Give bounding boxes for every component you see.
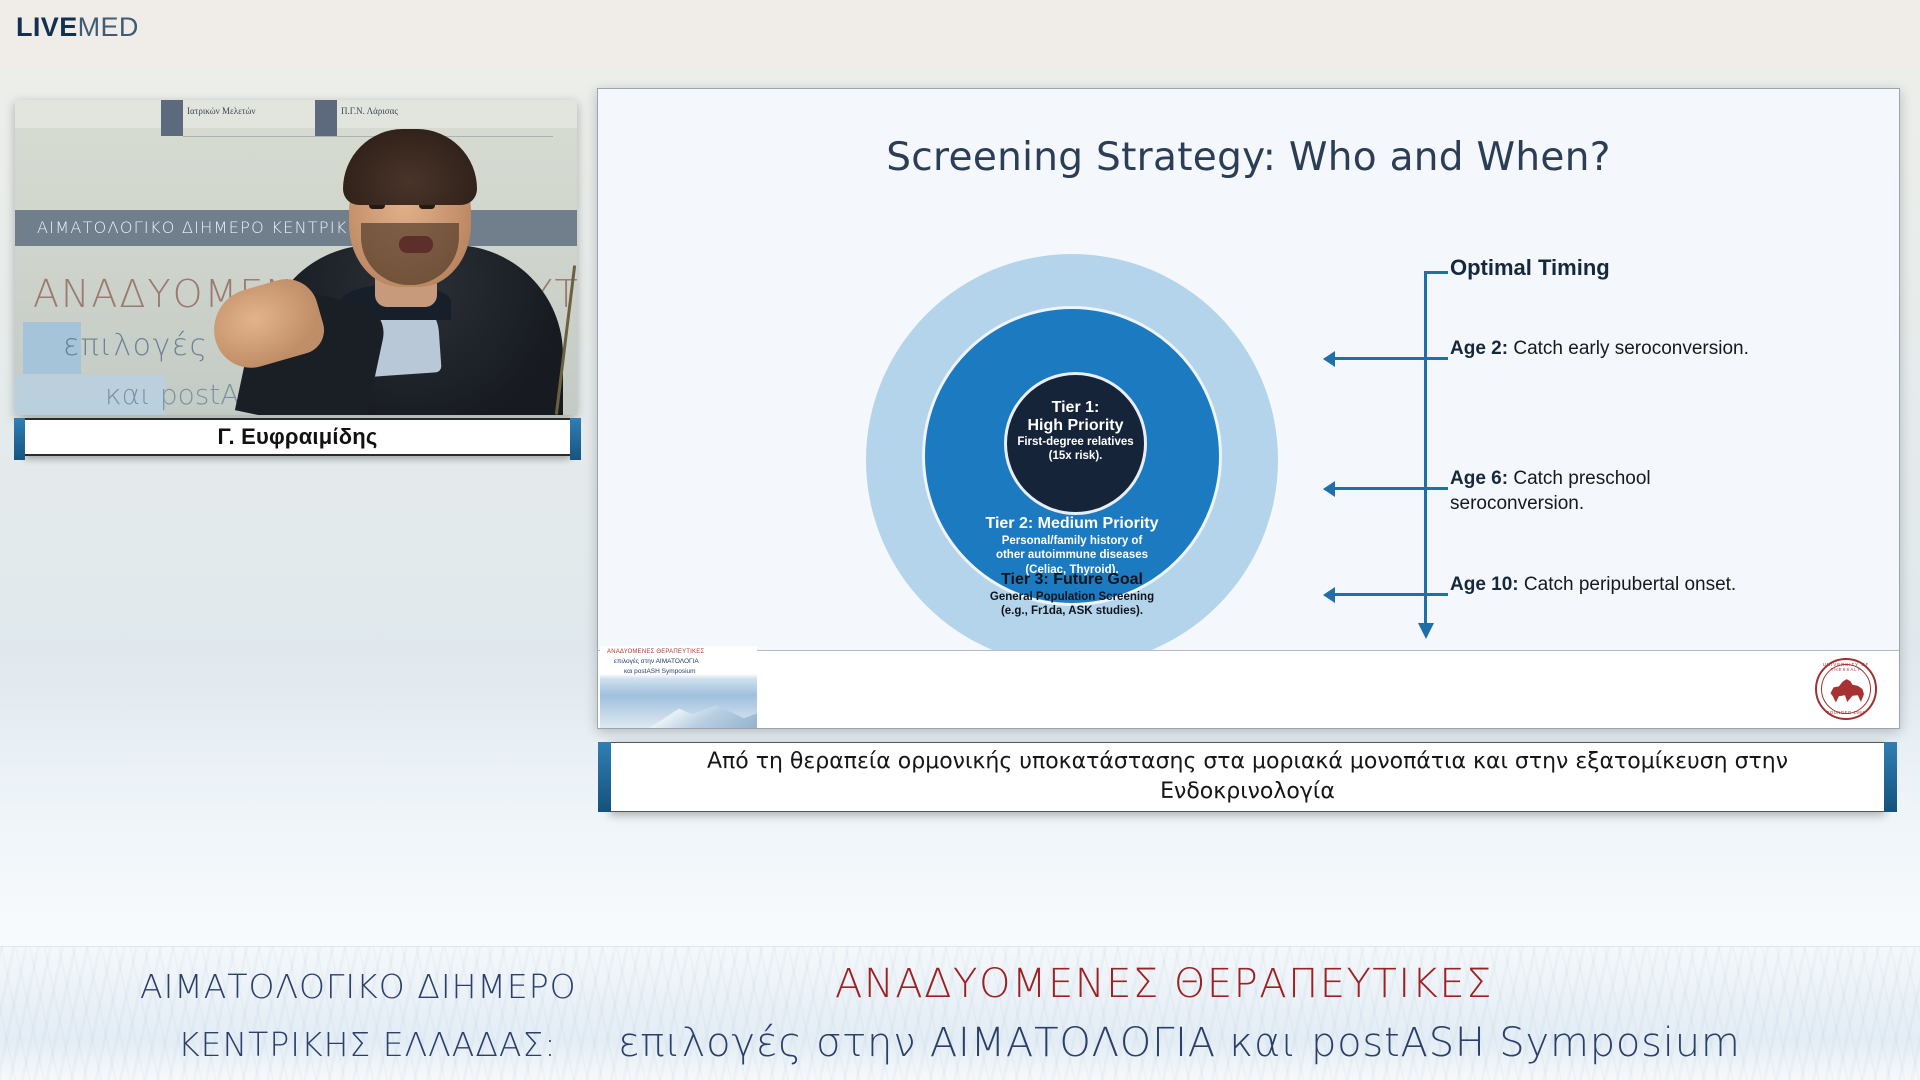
tier-1-detail-line2: (15x risk). [1007, 450, 1144, 464]
tier-3-detail-line2: (e.g., Fr1da, ASK studies). [866, 604, 1278, 618]
tier-3-label: Tier 3: Future Goal General Population S… [866, 570, 1278, 619]
tier-3-detail-line1: General Population Screening [866, 590, 1278, 604]
conference-bottom-banner: ΑΙΜΑΤΟΛΟΓΙΚΟ ΔΙΗΜΕΡΟ ΚΕΝΤΡΙΚΗΣ ΕΛΛΑΔΑΣ: … [0, 946, 1920, 1080]
speaker-hair [343, 129, 477, 205]
university-of-thessaly-seal-icon: UNIVERSITY OF THESSALY FOUNDED 1984 [1815, 658, 1877, 720]
timeline-top-cap [1424, 271, 1448, 274]
top-logo-bar: LIVEMED [0, 0, 1920, 66]
timeline-tick-age-2 [1334, 357, 1448, 360]
tier-1-heading-line2: High Priority [1007, 417, 1144, 435]
banner-left-line1: ΑΙΜΑΤΟΛΟΓΙΚΟ ΔΙΗΜΕΡΟ [140, 967, 577, 1006]
tier-2-label: Tier 2: Medium Priority Personal/family … [925, 514, 1219, 577]
timeline-age-2-text: Catch early seroconversion. [1508, 338, 1749, 359]
optimal-timing-timeline: Optimal Timing Age 2: Catch early seroco… [1424, 267, 1844, 667]
mini-logo-line1: ΑΝΑΔΥΟΜΕΝΕΣ ΘΕΡΑΠΕΥΤΙΚΕΣ [607, 649, 704, 655]
seal-bottom-text: FOUNDED 1984 [1817, 710, 1875, 715]
session-caption-bar: Από τη θεραπεία ορμονικής υποκατάστασης … [610, 742, 1885, 812]
name-plate-cap-left [14, 418, 25, 460]
caption-text: Από τη θεραπεία ορμονικής υποκατάστασης … [611, 747, 1884, 806]
tier-1-label: Tier 1: High Priority First-degree relat… [1007, 399, 1144, 463]
presentation-slide[interactable]: Screening Strategy: Who and When? Tier 1… [597, 88, 1900, 729]
tier-1-heading-line1: Tier 1: [1007, 399, 1144, 417]
arrow-left-icon-1 [1323, 351, 1335, 367]
banner-right-line2: επιλογές στην ΑΙΜΑΤΟΛΟΓΙΑ και postASH Sy… [618, 1020, 1741, 1066]
timeline-age-10-label: Age 10: [1450, 574, 1519, 595]
speaker-figure [223, 115, 577, 415]
tier-2-heading: Tier 2: Medium Priority [925, 514, 1219, 534]
timeline-item-age-6: Age 6: Catch preschool seroconversion. [1450, 467, 1750, 516]
name-plate-cap-right [570, 418, 581, 460]
tier-3-circle: Tier 1: High Priority First-degree relat… [866, 254, 1278, 666]
logo-live-text: LIVE [16, 12, 78, 42]
mini-logo-mountain-graphic [600, 686, 757, 728]
tier-1-circle: Tier 1: High Priority First-degree relat… [1004, 372, 1147, 515]
timeline-age-2-label: Age 2: [1450, 338, 1508, 359]
timeline-heading: Optimal Timing [1450, 255, 1610, 281]
tier-2-circle: Tier 1: High Priority First-degree relat… [922, 306, 1222, 606]
conference-mini-logo: ΑΝΑΔΥΟΜΕΝΕΣ ΘΕΡΑΠΕΥΤΙΚΕΣ επιλογές στην Α… [600, 646, 757, 728]
timeline-age-10-text: Catch peripubertal onset. [1519, 574, 1737, 595]
arrow-left-icon-3 [1323, 587, 1335, 603]
backdrop-tab-1 [161, 100, 183, 136]
timeline-spine [1424, 271, 1427, 627]
mini-logo-line2: επιλογές στην ΑΙΜΑΤΟΛΟΓΙΑ [614, 658, 699, 665]
slide-title: Screening Strategy: Who and When? [598, 135, 1899, 180]
slide-footer: ΑΝΑΔΥΟΜΕΝΕΣ ΘΕΡΑΠΕΥΤΙΚΕΣ επιλογές στην Α… [598, 650, 1899, 728]
caption-cap-left [598, 742, 611, 812]
speaker-name-plate: Γ. Ευφραιμίδης [25, 418, 570, 456]
livemed-logo[interactable]: LIVEMED [16, 14, 139, 41]
timeline-item-age-10: Age 10: Catch peripubertal onset. [1450, 573, 1750, 598]
seal-top-text: UNIVERSITY OF THESSALY [1817, 662, 1875, 672]
mini-logo-line3: και postASH Symposium [624, 668, 696, 675]
speaker-video[interactable]: Ιατρικών Μελετών Π.Γ.Ν. Λάρισας ΑΙΜΑΤΟΛΟ… [15, 100, 577, 415]
banner-right-line1: ΑΝΑΔΥΟΜΕΝΕΣ ΘΕΡΑΠΕΥΤΙΚΕΣ [835, 961, 1493, 1007]
banner-left-line2: ΚΕΝΤΡΙΚΗΣ ΕΛΛΑΔΑΣ: [178, 1025, 556, 1064]
timeline-item-age-2: Age 2: Catch early seroconversion. [1450, 337, 1750, 362]
timeline-tick-age-10 [1334, 593, 1448, 596]
tier-3-heading: Tier 3: Future Goal [866, 570, 1278, 590]
logo-med-text: MED [78, 12, 139, 42]
timeline-age-6-label: Age 6: [1450, 468, 1508, 489]
arrow-left-icon-2 [1323, 481, 1335, 497]
speaker-mouth [399, 236, 433, 253]
timeline-arrow-down-icon [1418, 623, 1434, 639]
timeline-tick-age-6 [1334, 487, 1448, 490]
caption-cap-right [1884, 742, 1897, 812]
speaker-name-text: Γ. Ευφραιμίδης [217, 424, 377, 450]
tier-2-detail-line1: Personal/family history of [925, 534, 1219, 548]
tier-1-detail-line1: First-degree relatives [1007, 436, 1144, 450]
tier-2-detail-line2: other autoimmune diseases [925, 548, 1219, 562]
